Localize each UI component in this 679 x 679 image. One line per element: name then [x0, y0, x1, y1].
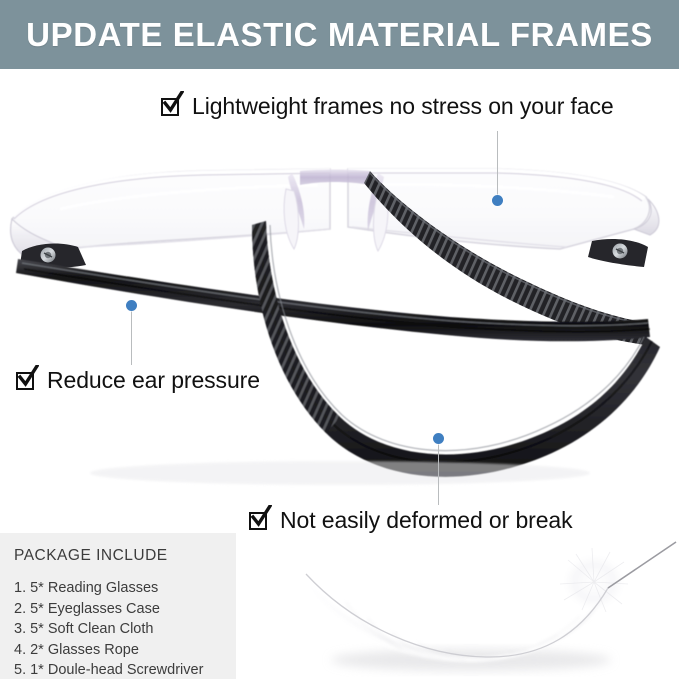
page-title: UPDATE ELASTIC MATERIAL FRAMES [26, 16, 653, 54]
header-banner: UPDATE ELASTIC MATERIAL FRAMES [0, 0, 679, 69]
list-item: 5. 1* Doule-head Screwdriver [14, 660, 236, 679]
leader-line-ear-pressure [131, 307, 132, 365]
checkbox-checked-icon [161, 96, 183, 118]
package-include-list: 1. 5* Reading Glasses 2. 5* Eyeglasses C… [14, 578, 236, 679]
list-item: 3. 5* Soft Clean Cloth [14, 619, 236, 640]
feather-image [276, 540, 679, 679]
checkbox-checked-icon [16, 370, 38, 392]
product-photo-glasses [0, 69, 679, 539]
callout-label-lightweight: Lightweight frames no stress on your fac… [192, 93, 614, 120]
leader-line-deformed [438, 440, 439, 505]
callout-reduce-ear-pressure: Reduce ear pressure [16, 367, 260, 394]
product-infographic-page: UPDATE ELASTIC MATERIAL FRAMES [0, 0, 679, 679]
callout-dot-ear-pressure [126, 300, 137, 311]
right-hinge-screw [588, 239, 648, 267]
list-item: 2. 5* Eyeglasses Case [14, 599, 236, 620]
callout-dot-lightweight [492, 195, 503, 206]
package-include-panel: PACKAGE INCLUDE 1. 5* Reading Glasses 2.… [0, 533, 236, 679]
checkbox-checked-icon [249, 510, 271, 532]
list-item: 4. 2* Glasses Rope [14, 640, 236, 661]
package-include-title: PACKAGE INCLUDE [14, 547, 236, 565]
callout-dot-deformed [433, 433, 444, 444]
callout-not-deformed: Not easily deformed or break [249, 507, 573, 534]
callout-label-deformed: Not easily deformed or break [280, 507, 573, 534]
callout-lightweight-frames: Lightweight frames no stress on your fac… [161, 93, 614, 120]
list-item: 1. 5* Reading Glasses [14, 578, 236, 599]
callout-label-ear-pressure: Reduce ear pressure [47, 367, 260, 394]
leader-line-lightweight [497, 131, 498, 199]
